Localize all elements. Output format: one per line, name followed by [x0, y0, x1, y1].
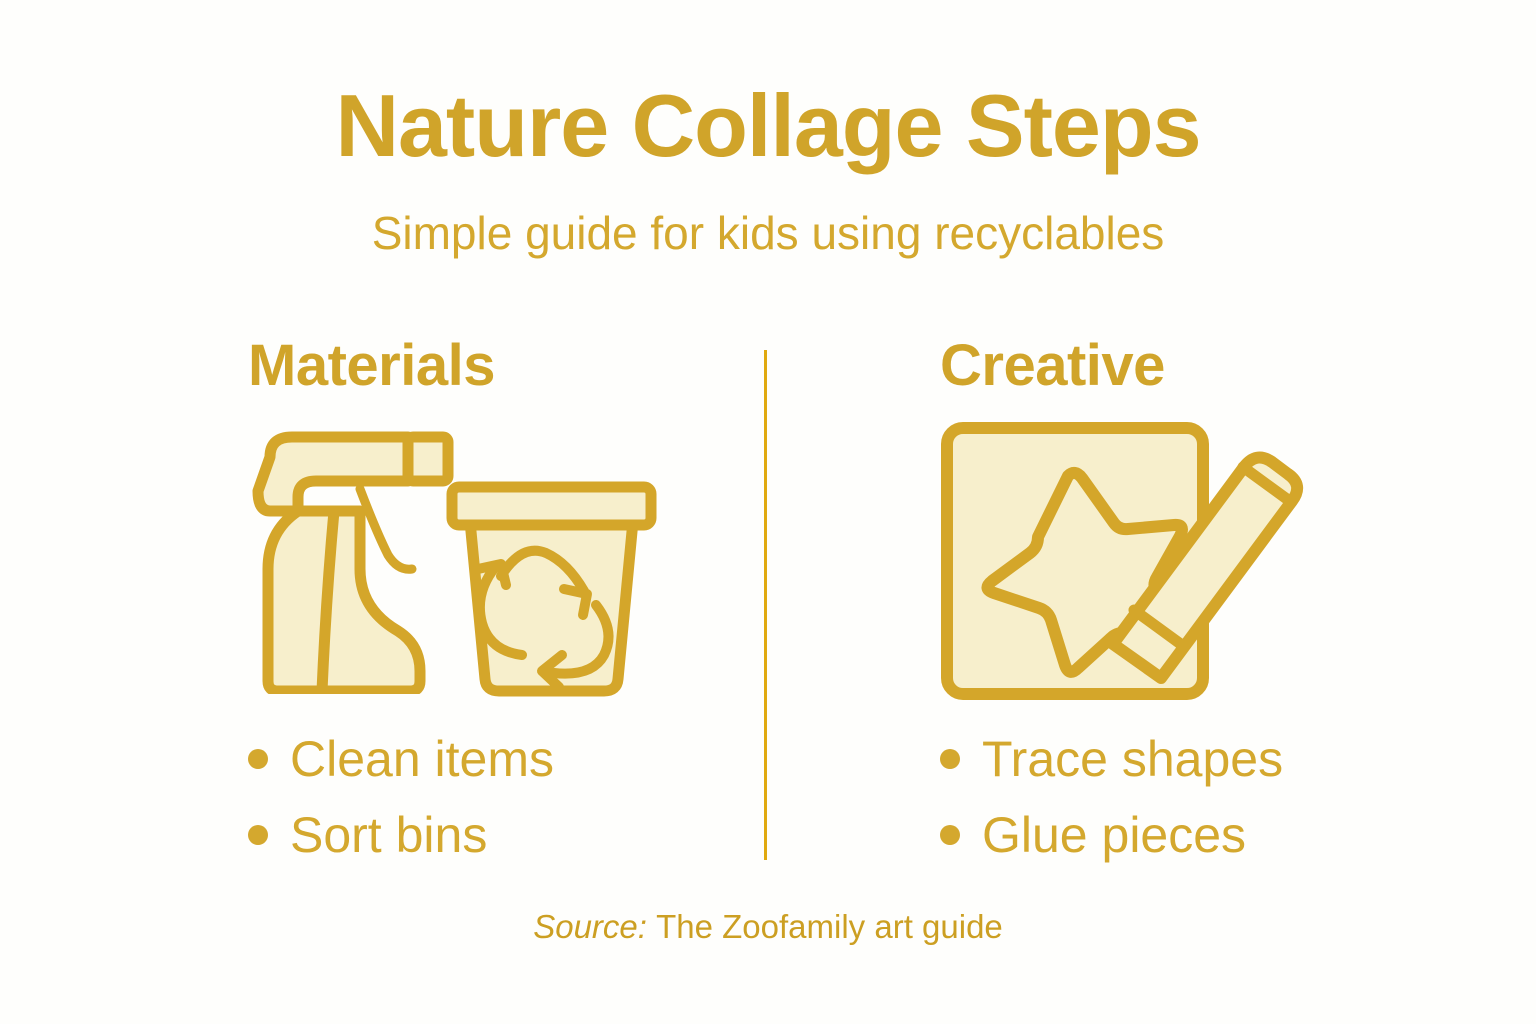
materials-icon-group: [248, 419, 768, 699]
spray-bottle-icon: [248, 419, 458, 694]
source-label: Source:: [533, 908, 647, 945]
star-drawing-pencil-icon: [938, 419, 1308, 709]
column-heading-materials: Materials: [248, 336, 768, 397]
bullet-label: Glue pieces: [982, 809, 1246, 862]
bullet-label: Clean items: [290, 733, 554, 786]
list-item: Sort bins: [248, 797, 768, 873]
list-item: Trace shapes: [940, 721, 1460, 797]
bullet-dot-icon: [940, 749, 960, 769]
page-title: Nature Collage Steps: [0, 82, 1536, 170]
trigger-lever-line: [360, 489, 412, 569]
bullet-label: Sort bins: [290, 809, 487, 862]
page-subtitle: Simple guide for kids using recyclables: [0, 208, 1536, 259]
column-creative: Creative Trace shapes Gl: [940, 336, 1460, 873]
column-materials: Materials: [248, 336, 768, 873]
infographic-page: Nature Collage Steps Simple guide for ki…: [0, 0, 1536, 1024]
recycle-bin-icon: [444, 481, 659, 701]
materials-bullet-list: Clean items Sort bins: [248, 721, 768, 873]
list-item: Clean items: [248, 721, 768, 797]
bullet-label: Trace shapes: [982, 733, 1283, 786]
creative-bullet-list: Trace shapes Glue pieces: [940, 721, 1460, 873]
source-line: Source: The Zoofamily art guide: [0, 908, 1536, 946]
bullet-dot-icon: [248, 825, 268, 845]
list-item: Glue pieces: [940, 797, 1460, 873]
bullet-dot-icon: [940, 825, 960, 845]
creative-icon-group: [940, 419, 1460, 699]
source-value: The Zoofamily art guide: [656, 908, 1003, 945]
bullet-dot-icon: [248, 749, 268, 769]
column-heading-creative: Creative: [940, 336, 1460, 397]
